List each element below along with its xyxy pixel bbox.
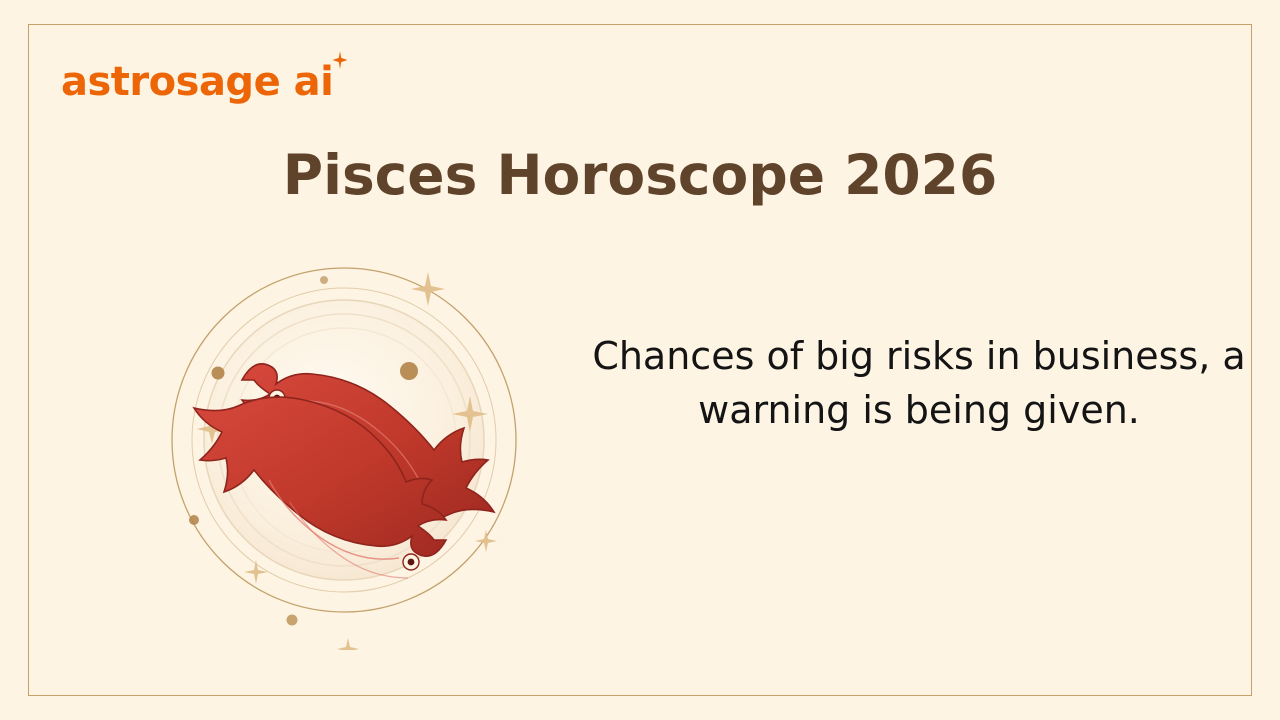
pisces-emblem	[134, 230, 554, 650]
orbit-dot-icon	[400, 362, 418, 380]
poster-card: astrosage ai Pisces Horoscope 2026	[28, 24, 1252, 696]
orbit-dot-icon	[189, 515, 199, 525]
orbit-dot-icon	[212, 367, 225, 380]
orbit-dot-icon	[320, 276, 328, 284]
sparkle-icon	[331, 51, 349, 69]
brand-name-ai: i	[320, 59, 333, 105]
orbit-dot-icon	[287, 615, 298, 626]
brand-logo: astrosage ai	[61, 59, 333, 105]
brand-name-primary: astrosage a	[61, 59, 320, 105]
pisces-two-fish-icon	[134, 230, 554, 650]
horoscope-quote: Chances of big risks in business, a warn…	[589, 330, 1249, 438]
page-title: Pisces Horoscope 2026	[29, 143, 1251, 207]
